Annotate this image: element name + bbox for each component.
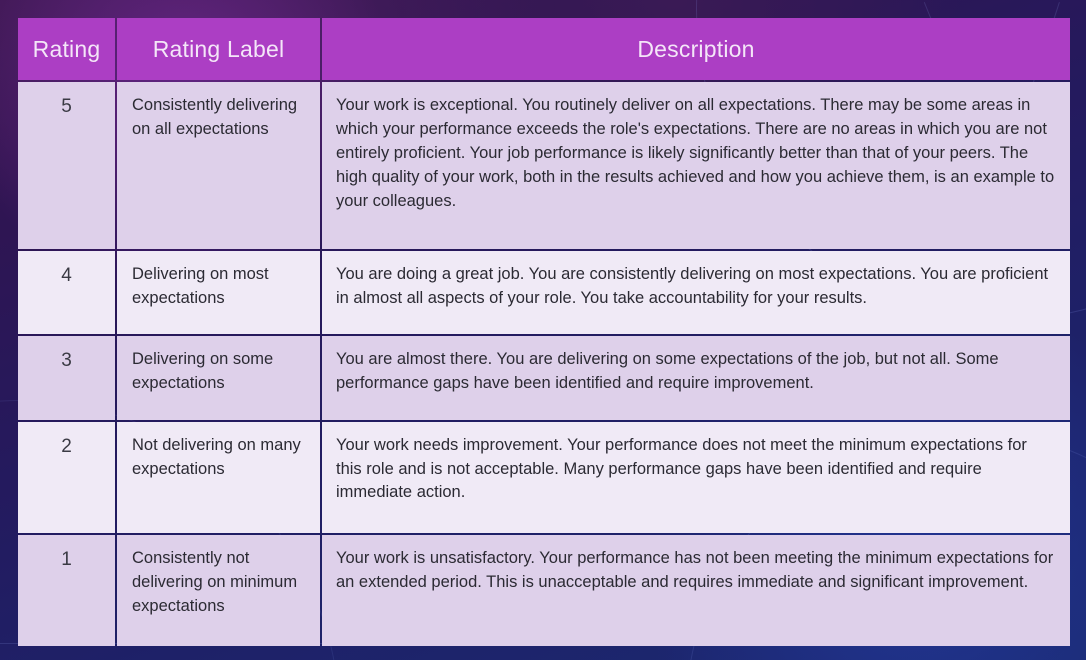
table-row: 2 Not delivering on many expectations Yo… (18, 422, 1070, 533)
cell-rating: 2 (18, 422, 115, 533)
cell-rating-label: Consistently delivering on all expectati… (117, 82, 320, 249)
cell-rating: 5 (18, 82, 115, 249)
table-row: 3 Delivering on some expectations You ar… (18, 336, 1070, 419)
cell-rating-label: Not delivering on many expectations (117, 422, 320, 533)
cell-rating: 1 (18, 535, 115, 646)
cell-rating-label: Delivering on some expectations (117, 336, 320, 419)
cell-rating-label: Consistently not delivering on minimum e… (117, 535, 320, 646)
header-row: Rating Rating Label Description (18, 18, 1070, 80)
column-header-rating-label: Rating Label (117, 18, 320, 80)
cell-rating-label: Delivering on most expectations (117, 251, 320, 334)
cell-description: Your work needs improvement. Your perfor… (322, 422, 1070, 533)
table-body: 5 Consistently delivering on all expecta… (18, 82, 1070, 646)
table-header: Rating Rating Label Description (18, 18, 1070, 80)
table-row: 1 Consistently not delivering on minimum… (18, 535, 1070, 646)
cell-rating: 4 (18, 251, 115, 334)
cell-description: Your work is exceptional. You routinely … (322, 82, 1070, 249)
cell-rating: 3 (18, 336, 115, 419)
cell-description: Your work is unsatisfactory. Your perfor… (322, 535, 1070, 646)
cell-description: You are doing a great job. You are consi… (322, 251, 1070, 334)
table-row: 5 Consistently delivering on all expecta… (18, 82, 1070, 249)
column-header-description: Description (322, 18, 1070, 80)
cell-description: You are almost there. You are delivering… (322, 336, 1070, 419)
column-header-rating: Rating (18, 18, 115, 80)
rating-scale-table-container: Rating Rating Label Description 5 Consis… (16, 16, 1072, 648)
rating-scale-table: Rating Rating Label Description 5 Consis… (16, 16, 1072, 648)
table-row: 4 Delivering on most expectations You ar… (18, 251, 1070, 334)
